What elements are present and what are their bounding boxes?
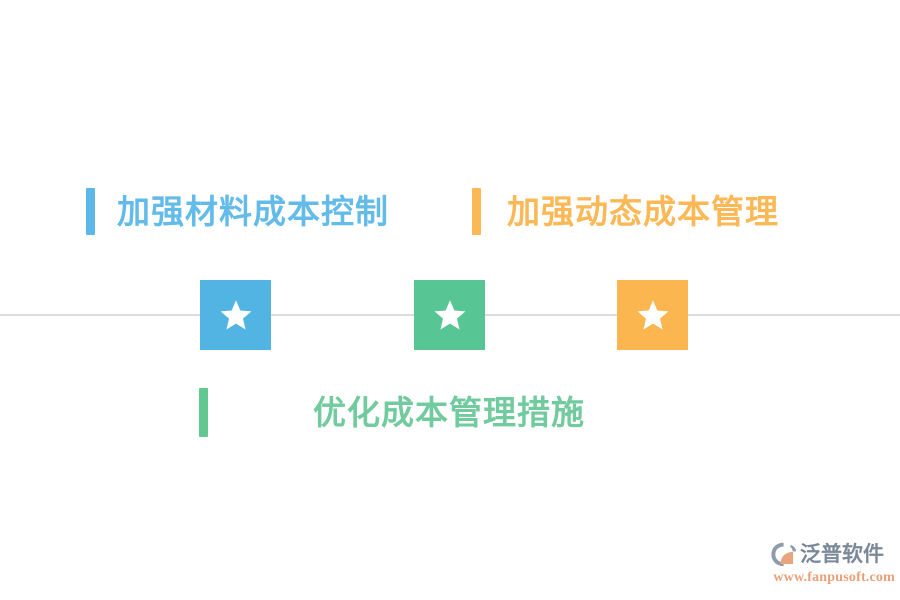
label-material: 加强材料成本控制 — [117, 195, 389, 228]
diagram-canvas: 加强材料成本控制 加强动态成本管理 优化成本管理措施 — [0, 0, 900, 600]
fanpu-logo-icon — [770, 541, 798, 567]
milestone-node-optimize — [414, 280, 485, 350]
accent-bar-material — [86, 188, 95, 235]
star-icon — [636, 298, 670, 332]
label-group-dynamic: 加强动态成本管理 — [472, 188, 779, 235]
brand-watermark: 泛普软件 www.fanpusoft.com — [770, 540, 895, 588]
star-icon — [433, 298, 467, 332]
milestone-node-material — [200, 280, 271, 350]
brand-url: www.fanpusoft.com — [770, 570, 895, 586]
label-optimize: 优化成本管理措施 — [313, 396, 585, 429]
label-dynamic: 加强动态成本管理 — [507, 195, 779, 228]
milestone-node-dynamic — [617, 280, 688, 350]
accent-bar-dynamic — [472, 188, 481, 235]
label-group-optimize: 优化成本管理措施 — [199, 388, 585, 437]
star-icon — [219, 298, 253, 332]
brand-name: 泛普软件 — [800, 544, 884, 565]
accent-bar-optimize — [199, 388, 208, 437]
brand-row: 泛普软件 — [770, 540, 895, 568]
label-group-material: 加强材料成本控制 — [86, 188, 389, 235]
